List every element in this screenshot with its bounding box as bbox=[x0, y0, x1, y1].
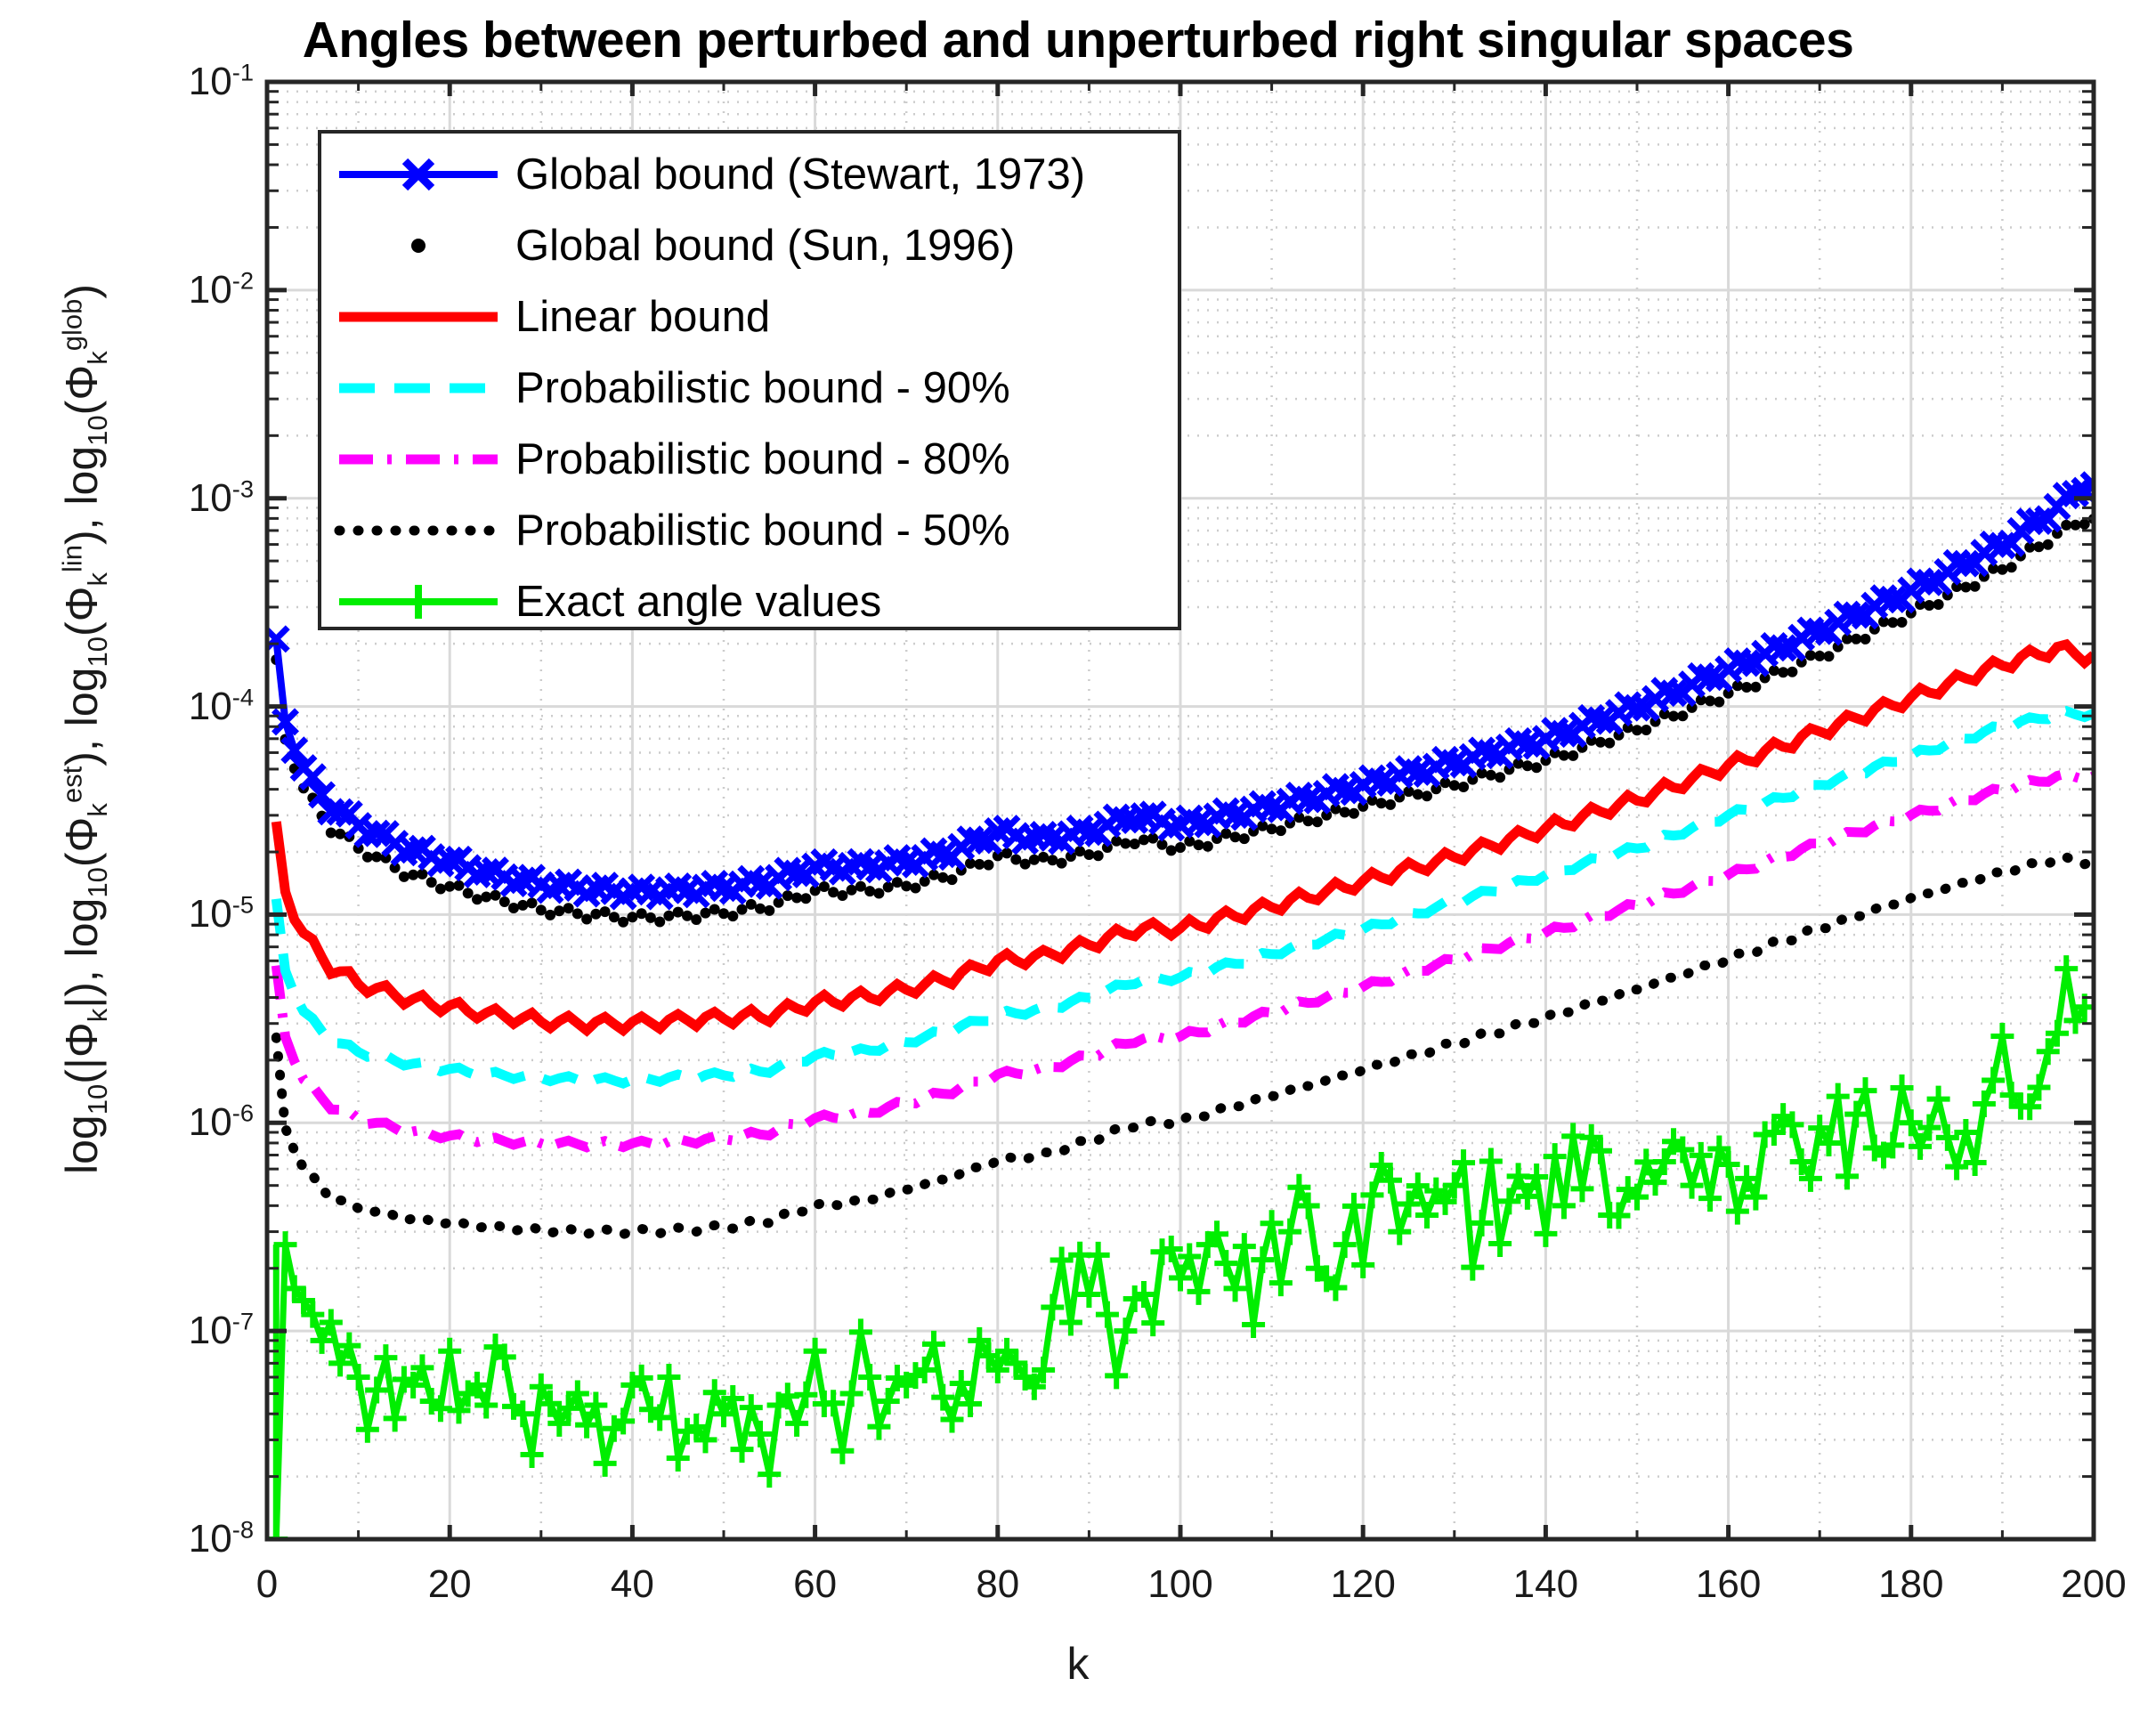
marker-dot bbox=[1750, 682, 1761, 693]
marker-dot bbox=[1970, 581, 1981, 592]
legend-item[interactable]: Exact angle values bbox=[321, 566, 1178, 637]
marker-dot bbox=[2071, 520, 2081, 531]
marker-dot bbox=[791, 893, 802, 904]
marker-dot bbox=[709, 904, 720, 915]
x-axis-tick-label: 80 bbox=[976, 1562, 1019, 1607]
marker-dot bbox=[764, 905, 774, 916]
marker-dot bbox=[1458, 782, 1469, 792]
marker-dot bbox=[1385, 799, 1396, 810]
marker-dot bbox=[454, 880, 465, 891]
marker-dot bbox=[1120, 839, 1131, 849]
marker-dot bbox=[1714, 697, 1724, 708]
marker-dot bbox=[1175, 842, 1186, 853]
marker-dot bbox=[701, 908, 711, 919]
legend-item[interactable]: Probabilistic bound - 90% bbox=[321, 353, 1178, 424]
marker-dot bbox=[1851, 634, 1861, 645]
legend-item-label: Exact angle values bbox=[515, 577, 881, 627]
marker-dot bbox=[1486, 770, 1496, 781]
legend-swatch bbox=[321, 495, 515, 566]
legend-swatch bbox=[321, 424, 515, 495]
marker-dot bbox=[1194, 839, 1204, 850]
marker-dot bbox=[1449, 780, 1460, 791]
marker-dot bbox=[1267, 823, 1277, 834]
marker-dot bbox=[911, 883, 921, 894]
marker-dot bbox=[1166, 845, 1177, 855]
marker-dot bbox=[727, 911, 738, 921]
legend-swatch bbox=[321, 139, 515, 210]
marker-dot bbox=[901, 880, 912, 891]
legend-item[interactable]: Probabilistic bound - 80% bbox=[321, 424, 1178, 495]
marker-dot bbox=[1029, 855, 1040, 865]
marker-dot bbox=[399, 872, 409, 882]
marker-dot bbox=[545, 910, 555, 920]
marker-dot bbox=[1860, 634, 1871, 645]
marker-dot bbox=[527, 897, 538, 908]
marker-dot bbox=[847, 885, 857, 896]
marker-dot bbox=[1038, 852, 1049, 863]
marker-dot bbox=[828, 887, 839, 897]
marker-dot bbox=[1632, 725, 1642, 735]
legend-swatch bbox=[321, 566, 515, 637]
marker-dot bbox=[1276, 825, 1286, 836]
marker-dot bbox=[536, 904, 547, 915]
legend-item-label: Linear bound bbox=[515, 292, 770, 342]
marker-dot bbox=[2079, 519, 2090, 530]
marker-dot bbox=[746, 899, 757, 910]
marker-dot bbox=[883, 882, 894, 893]
marker-dot bbox=[1668, 711, 1679, 722]
legend-item[interactable]: Linear bound bbox=[321, 281, 1178, 353]
marker-dot bbox=[718, 908, 729, 919]
legend-swatch bbox=[321, 281, 515, 353]
chart-figure: Angles between perturbed and unperturbed… bbox=[0, 0, 2156, 1719]
marker-dot bbox=[1139, 834, 1149, 845]
marker-dot bbox=[1568, 750, 1578, 761]
marker-dot bbox=[864, 886, 875, 896]
marker-dot bbox=[837, 890, 847, 901]
marker-dot bbox=[1495, 772, 1505, 782]
marker-dot bbox=[1805, 650, 1816, 661]
legend-swatch bbox=[321, 210, 515, 281]
marker-dot bbox=[335, 829, 345, 839]
x-axis-tick-label: 200 bbox=[2061, 1562, 2126, 1607]
marker-dot bbox=[663, 911, 674, 921]
marker-dot bbox=[1093, 850, 1104, 861]
marker-dot bbox=[463, 888, 474, 898]
legend-marker-plus bbox=[403, 585, 434, 619]
marker-dot bbox=[1778, 667, 1788, 677]
marker-dot bbox=[2061, 520, 2071, 531]
marker-dot bbox=[654, 917, 665, 928]
marker-dot bbox=[2006, 562, 2017, 572]
legend-item[interactable]: Global bound (Sun, 1996) bbox=[321, 210, 1178, 281]
marker-dot bbox=[819, 881, 830, 892]
marker-dot bbox=[947, 874, 958, 885]
marker-dot bbox=[517, 900, 528, 911]
legend-swatch bbox=[321, 353, 515, 424]
marker-dot bbox=[892, 877, 903, 888]
marker-dot bbox=[572, 908, 583, 919]
x-axis-tick-label: 140 bbox=[1513, 1562, 1578, 1607]
marker-dot bbox=[1083, 849, 1094, 860]
x-axis-tick-label: 160 bbox=[1696, 1562, 1761, 1607]
marker-dot bbox=[1887, 617, 1898, 628]
marker-dot bbox=[444, 881, 455, 892]
marker-dot bbox=[627, 912, 637, 922]
legend-item-label: Global bound (Stewart, 1973) bbox=[515, 150, 1085, 199]
marker-dot bbox=[937, 872, 948, 883]
marker-dot bbox=[1230, 831, 1241, 842]
marker-dot bbox=[490, 890, 501, 901]
marker-dot bbox=[1741, 682, 1752, 693]
marker-dot bbox=[2033, 541, 2044, 552]
marker-dot bbox=[1960, 582, 1971, 593]
marker-dot bbox=[1376, 798, 1387, 808]
marker-dot bbox=[984, 860, 994, 871]
marker-dot bbox=[691, 914, 701, 925]
marker-dot bbox=[1413, 789, 1423, 799]
chart-legend: Global bound (Stewart, 1973)Global bound… bbox=[318, 130, 1181, 630]
legend-item-label: Probabilistic bound - 50% bbox=[515, 506, 1010, 555]
x-axis-tick-label: 60 bbox=[793, 1562, 837, 1607]
marker-dot bbox=[1531, 762, 1542, 773]
marker-dot bbox=[755, 904, 766, 914]
marker-dot bbox=[1001, 847, 1012, 858]
marker-dot bbox=[1924, 600, 1934, 611]
marker-dot bbox=[408, 870, 418, 880]
marker-dot bbox=[974, 859, 985, 870]
x-axis-tick-label: 40 bbox=[611, 1562, 654, 1607]
marker-dot bbox=[1239, 833, 1250, 844]
marker-dot bbox=[1312, 816, 1323, 827]
legend-item-label: Probabilistic bound - 90% bbox=[515, 363, 1010, 413]
marker-dot bbox=[508, 903, 519, 913]
marker-dot bbox=[1010, 855, 1021, 865]
marker-dot bbox=[855, 881, 866, 892]
marker-dot bbox=[1677, 710, 1688, 721]
marker-dot bbox=[1997, 564, 2007, 575]
marker-dot bbox=[1130, 839, 1140, 849]
x-axis-tick-label: 100 bbox=[1147, 1562, 1212, 1607]
x-axis-tick-label: 0 bbox=[256, 1562, 278, 1607]
x-axis-tick-label: 180 bbox=[1878, 1562, 1943, 1607]
marker-dot bbox=[1824, 651, 1835, 661]
marker-dot bbox=[435, 884, 446, 895]
marker-dot bbox=[563, 903, 574, 913]
marker-dot bbox=[636, 908, 647, 919]
marker-dot bbox=[426, 877, 437, 888]
marker-dot bbox=[1340, 807, 1350, 817]
marker-dot bbox=[737, 904, 748, 915]
marker-dot bbox=[1303, 815, 1314, 826]
marker-dot bbox=[326, 828, 336, 839]
x-axis-tick-label: 120 bbox=[1330, 1562, 1395, 1607]
marker-dot bbox=[1641, 725, 1651, 735]
marker-dot bbox=[782, 890, 793, 901]
marker-dot bbox=[800, 893, 811, 904]
legend-item-label: Global bound (Sun, 1996) bbox=[515, 221, 1015, 271]
marker-dot bbox=[1422, 791, 1432, 801]
legend-item[interactable]: Global bound (Stewart, 1973) bbox=[321, 139, 1178, 210]
marker-dot bbox=[1020, 859, 1031, 870]
marker-dot bbox=[1933, 599, 1944, 610]
marker-dot bbox=[645, 912, 656, 923]
marker-dot bbox=[609, 912, 620, 922]
marker-dot bbox=[581, 914, 592, 925]
legend-item-label: Probabilistic bound - 80% bbox=[515, 434, 1010, 484]
marker-dot bbox=[590, 909, 601, 920]
marker-dot bbox=[1595, 737, 1606, 748]
legend-item[interactable]: Probabilistic bound - 50% bbox=[321, 495, 1178, 566]
x-axis-tick-label: 20 bbox=[428, 1562, 472, 1607]
legend-marker-dot bbox=[411, 239, 426, 253]
marker-dot bbox=[362, 852, 373, 863]
marker-dot bbox=[1220, 828, 1231, 839]
marker-dot bbox=[1057, 858, 1067, 869]
marker-dot bbox=[1705, 695, 1715, 706]
marker-dot bbox=[2043, 539, 2054, 550]
marker-dot bbox=[1814, 651, 1825, 661]
marker-dot bbox=[1604, 738, 1615, 749]
marker-dot bbox=[472, 894, 482, 904]
marker-dot bbox=[1203, 841, 1213, 852]
marker-dot bbox=[481, 892, 491, 903]
marker-dot bbox=[618, 917, 628, 928]
marker-dot bbox=[1074, 846, 1085, 856]
marker-dot bbox=[1522, 760, 1533, 771]
marker-dot bbox=[371, 852, 382, 863]
marker-dot bbox=[600, 906, 611, 917]
marker-dot bbox=[1047, 855, 1058, 865]
marker-dot bbox=[1349, 808, 1359, 819]
marker-dot bbox=[1897, 617, 1908, 628]
marker-dot bbox=[873, 888, 884, 899]
marker-dot bbox=[673, 907, 684, 918]
marker-dot bbox=[554, 905, 564, 916]
marker-dot bbox=[499, 896, 510, 907]
marker-dot bbox=[1559, 750, 1569, 761]
marker-dot bbox=[1787, 667, 1797, 677]
